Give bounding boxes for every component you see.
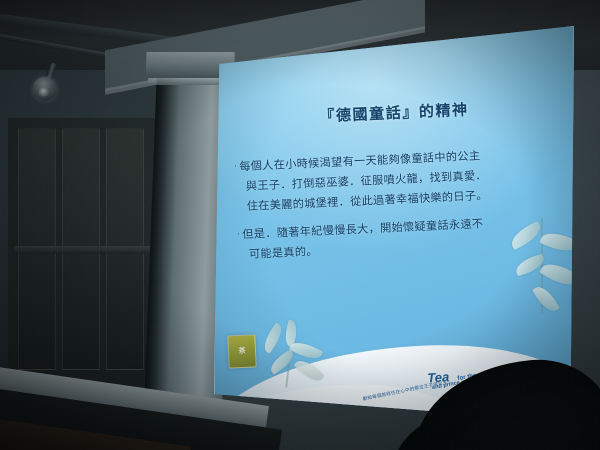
leaf-shape — [539, 258, 574, 292]
tea-brand-logo-badge: 茶 — [228, 334, 257, 368]
leaf-shape — [293, 356, 324, 386]
wall-cabinet — [8, 118, 158, 386]
leaf-shape — [532, 283, 560, 316]
slide-body: ·每個人在小時候渴望有一天能夠像童話中的公主 與王子．打倒惡巫婆．征服噴火龍，找… — [233, 143, 566, 273]
bullet-marker: · — [236, 228, 240, 238]
leaf-shape — [267, 349, 297, 375]
photo-scene: 『德國童話』的精神 ·每個人在小時候渴望有一天能夠像童話中的公主 與王子．打倒惡… — [0, 0, 600, 450]
slide-bullet: ·但是．隨著年紀慢慢長大，開始懷疑童話永遠不 可能是真的。 — [236, 210, 565, 266]
leaf-shape — [259, 322, 286, 354]
bottom-left-leaves — [254, 326, 338, 390]
logo-mark-text: 茶 — [239, 348, 246, 356]
cabinet-shelf-rail — [14, 246, 160, 254]
bullet-marker: · — [233, 160, 237, 170]
